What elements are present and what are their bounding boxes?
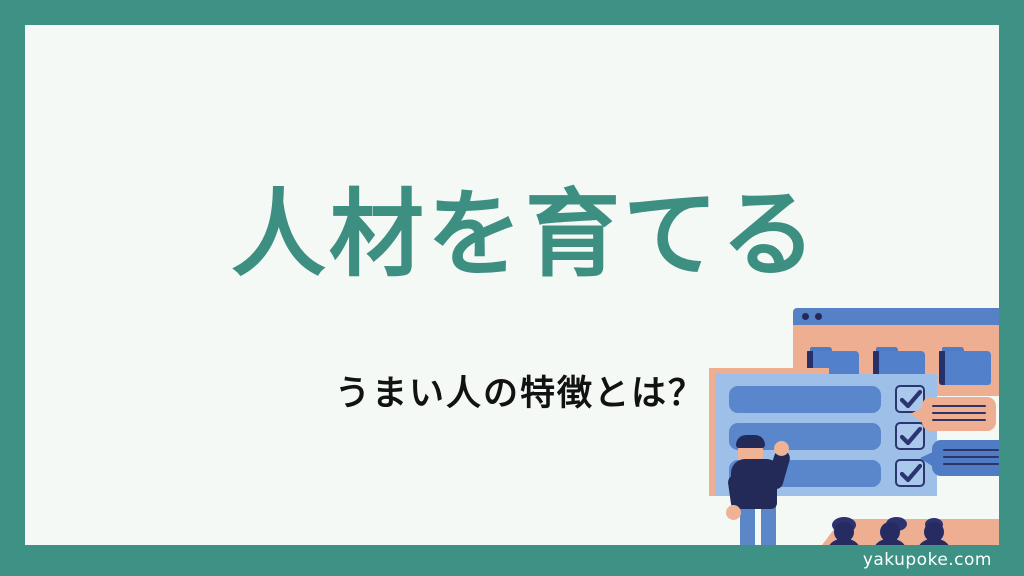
- presenter-figure: [713, 435, 795, 545]
- audience-figure: [873, 522, 907, 545]
- thumbnail-card: 人材を育てる うまい人の特徴とは？ yakupoke.com: [0, 0, 1024, 576]
- browser-titlebar: [793, 308, 999, 325]
- audience-figure: [917, 522, 951, 545]
- speech-bubble-icon: [910, 397, 996, 433]
- page-subtitle: うまい人の特徴とは？: [230, 373, 810, 415]
- speech-bubble-icon: [920, 440, 999, 478]
- folder-icon: [939, 347, 991, 385]
- browser-dot-icon: [802, 313, 809, 320]
- audience-figure: [827, 522, 861, 545]
- site-watermark: yakupoke.com: [863, 550, 992, 570]
- browser-dot-icon: [815, 313, 822, 320]
- page-title: 人材を育てる: [175, 183, 875, 288]
- content-canvas: 人材を育てる うまい人の特徴とは？: [25, 25, 999, 545]
